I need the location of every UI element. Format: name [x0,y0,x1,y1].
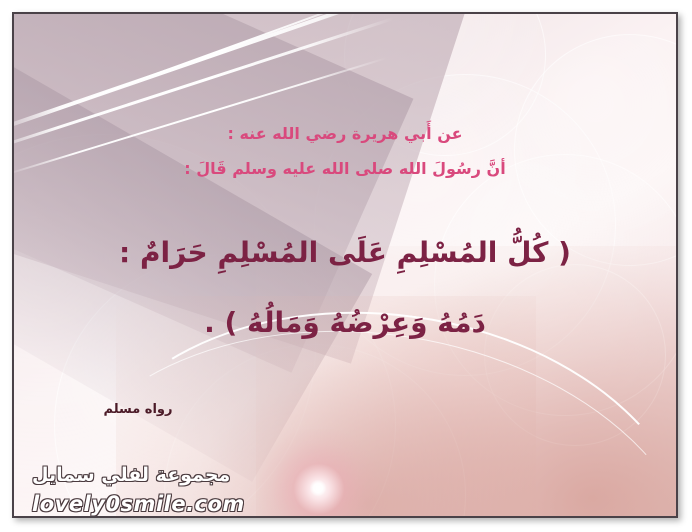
narration-line-2: أنَّ رسُولَ الله صلى الله عليه وسلم قَال… [14,159,676,178]
hadith-line-1: ( كُلُّ المُسْلِمِ عَلَى المُسْلِمِ حَرَ… [14,236,676,269]
hadith-source: رواه مسلم [14,402,262,417]
watermark-url: lovely0smile.com [32,492,245,516]
watermark-arabic: مجموعة لفلي سمايل [32,464,230,486]
card-border: عن أَبي هريرة رضي الله عنه : أنَّ رسُولَ… [12,12,678,518]
narration-line-1: عن أَبي هريرة رضي الله عنه : [14,124,676,143]
text-layer: عن أَبي هريرة رضي الله عنه : أنَّ رسُولَ… [14,14,676,516]
card-frame: عن أَبي هريرة رضي الله عنه : أنَّ رسُولَ… [0,0,692,532]
hadith-line-2: دَمُهُ وَعِرْضُهُ وَمَالُهُ ) . [14,306,676,339]
